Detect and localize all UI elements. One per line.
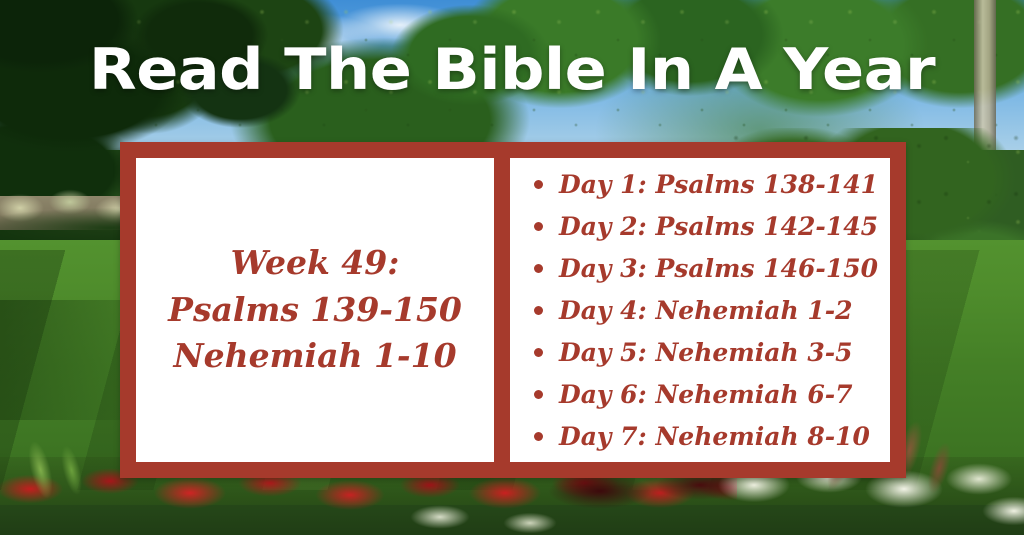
bullet-icon xyxy=(534,180,543,189)
bullet-icon xyxy=(534,348,543,357)
white-flowers-center xyxy=(400,495,660,535)
day-reading-label: Day 7: Nehemiah 8-10 xyxy=(559,424,870,449)
bullet-icon xyxy=(534,390,543,399)
list-item: Day 2: Psalms 142-145 xyxy=(534,205,878,247)
bullet-icon xyxy=(534,306,543,315)
poster-title: Read The Bible In A Year xyxy=(0,42,1024,99)
bullet-icon xyxy=(534,264,543,273)
daily-readings-card: Day 1: Psalms 138-141 Day 2: Psalms 142-… xyxy=(510,158,890,462)
day-reading-label: Day 3: Psalms 146-150 xyxy=(559,256,878,281)
week-line-3: Nehemiah 1-10 xyxy=(173,333,456,380)
list-item: Day 3: Psalms 146-150 xyxy=(534,247,878,289)
list-item: Day 5: Nehemiah 3-5 xyxy=(534,331,878,373)
content-frame: Week 49: Psalms 139-150 Nehemiah 1-10 Da… xyxy=(120,142,906,478)
day-reading-label: Day 1: Psalms 138-141 xyxy=(559,172,878,197)
list-item: Day 7: Nehemiah 8-10 xyxy=(534,415,878,457)
daily-readings-list: Day 1: Psalms 138-141 Day 2: Psalms 142-… xyxy=(534,163,878,457)
list-item: Day 1: Psalms 138-141 xyxy=(534,163,878,205)
day-reading-label: Day 6: Nehemiah 6-7 xyxy=(559,382,852,407)
week-line-2: Psalms 139-150 xyxy=(168,287,462,334)
list-item: Day 4: Nehemiah 1-2 xyxy=(534,289,878,331)
day-reading-label: Day 4: Nehemiah 1-2 xyxy=(559,298,852,323)
bullet-icon xyxy=(534,222,543,231)
bullet-icon xyxy=(534,432,543,441)
day-reading-label: Day 2: Psalms 142-145 xyxy=(559,214,878,239)
week-summary-card: Week 49: Psalms 139-150 Nehemiah 1-10 xyxy=(136,158,494,462)
week-line-1: Week 49: xyxy=(231,240,400,287)
poster-canvas: Read The Bible In A Year Week 49: Psalms… xyxy=(0,0,1024,535)
day-reading-label: Day 5: Nehemiah 3-5 xyxy=(559,340,852,365)
list-item: Day 6: Nehemiah 6-7 xyxy=(534,373,878,415)
